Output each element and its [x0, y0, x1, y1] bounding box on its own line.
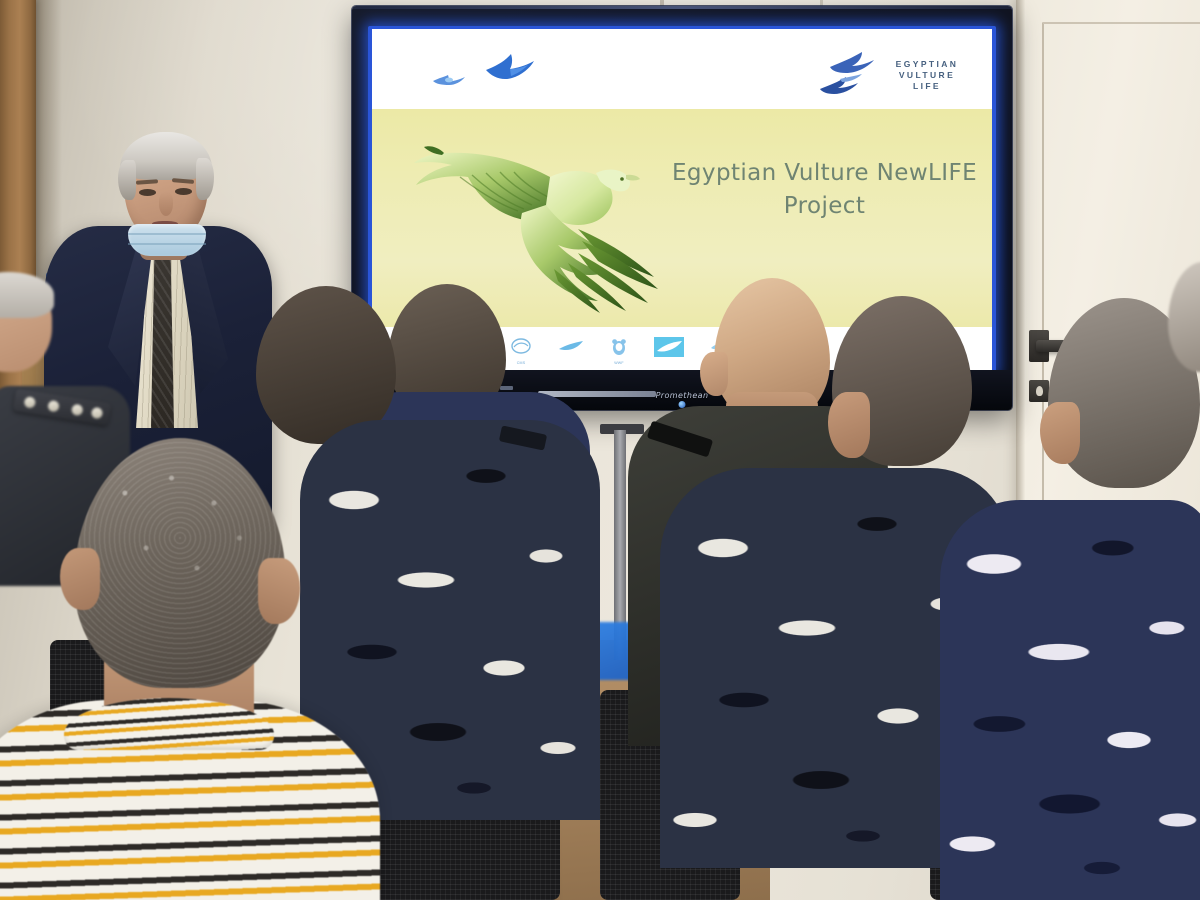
bspb-logo	[654, 337, 684, 362]
logo-line-1: EGYPTIAN	[880, 59, 974, 70]
speaker-hair-left	[118, 160, 136, 200]
camo-pattern	[940, 500, 1200, 900]
camo-right-ear	[828, 392, 870, 458]
photo-scene: EGYPTIAN VULTURE LIFE	[0, 0, 1200, 900]
large-blue-bird-icon	[484, 51, 538, 85]
door-keyhole-icon	[1029, 380, 1049, 402]
logo-line-3: LIFE	[880, 81, 974, 92]
cms-logo-caption: CMS	[517, 361, 526, 365]
bezel-highlight	[352, 6, 1012, 9]
rank-pip-4	[91, 407, 104, 420]
logo-line-2: VULTURE	[880, 70, 974, 81]
rank-pip-2	[47, 400, 60, 413]
control-button-4[interactable]	[500, 386, 513, 390]
small-blue-bird-icon	[432, 73, 466, 87]
slide-title: Egyptian Vulture NewLIFE Project	[672, 157, 977, 223]
rank-pip-1	[24, 396, 37, 409]
slide-title-line-1: Egyptian Vulture NewLIFE	[672, 157, 977, 190]
wwf-logo: WWF	[610, 338, 628, 361]
speaker-eye-right	[175, 188, 192, 195]
bald-officer-ear	[700, 352, 728, 396]
logo-birds-icon	[818, 49, 880, 101]
logo-text: EGYPTIAN VULTURE LIFE	[880, 59, 974, 92]
logo-vulture-marks	[818, 49, 880, 101]
speaker-face-mask	[128, 224, 206, 256]
egyptian-vulture-life-logo: EGYPTIAN VULTURE LIFE	[818, 47, 978, 103]
foreground-ear-left	[60, 548, 100, 610]
display-brand-label: Promethean	[656, 391, 709, 400]
wwf-logo-caption: WWF	[614, 361, 624, 365]
cms-logo: CMS	[510, 338, 532, 361]
bird-partner-logo	[558, 340, 584, 359]
speaker-eye-left	[139, 189, 156, 196]
camo-far-right-ear	[1040, 402, 1080, 464]
rank-pip-3	[71, 404, 84, 417]
camo-far-right-uniform	[940, 500, 1200, 900]
speaker-nose	[159, 192, 173, 216]
slide-title-line-2: Project	[672, 190, 977, 223]
